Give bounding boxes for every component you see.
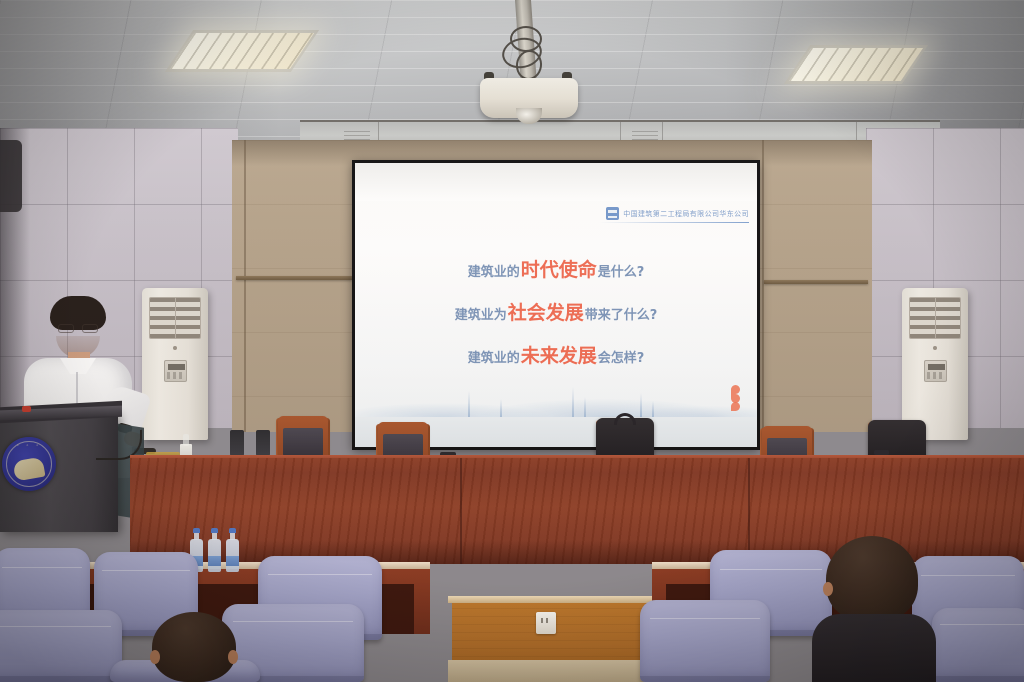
ceiling-light-right [789, 48, 923, 81]
ac-buttons[interactable] [167, 372, 184, 379]
slide-logo-text: 中国建筑第二工程局有限公司华东公司 [623, 209, 749, 219]
light-slats [170, 33, 314, 69]
ac-unit-right [902, 288, 968, 440]
chair-draped-bag-center [596, 418, 654, 460]
slide-line-3: 建筑业的未来发展会怎样? [468, 341, 645, 368]
conference-room-photo: EPSON 中国建筑第二工程局有限公司华东公司 建筑业的时代使命是什么? [0, 0, 1024, 682]
slide-line-1-highlight: 时代使命 [521, 259, 597, 281]
slide-line-1: 建筑业的时代使命是什么? [468, 255, 645, 282]
slide-logo: 中国建筑第二工程局有限公司华东公司 [606, 207, 749, 220]
slide-surface: 中国建筑第二工程局有限公司华东公司 建筑业的时代使命是什么? 建筑业为社会发展带… [355, 163, 757, 447]
ceiling-projector: EPSON [466, 0, 586, 132]
panel-seam [762, 140, 764, 432]
glasses-icon [58, 324, 98, 333]
ceiling-light-left [170, 33, 314, 69]
ac-led-icon [173, 346, 177, 350]
podium-indicator-icon [22, 406, 31, 412]
emblem-text: ◦ ◦ ◦ [8, 443, 50, 449]
slide-ribbon-ornament [731, 385, 741, 411]
projector-lens [516, 108, 542, 124]
attendee-right-head [826, 536, 918, 622]
attendee-right-shoulders [812, 614, 936, 682]
desk-microphone [256, 430, 270, 456]
desk-microphone [230, 430, 244, 456]
ear [228, 650, 238, 664]
slide-line-2: 建筑业为社会发展带来了什么? [455, 298, 658, 325]
wall-rail-left [236, 276, 352, 280]
slide-line-2-pre: 建筑业为 [455, 308, 507, 323]
wall-rail-right [764, 280, 868, 284]
riser-top-lip [448, 596, 652, 603]
riser-base [448, 660, 652, 682]
slide-question-list: 建筑业的时代使命是什么? 建筑业为社会发展带来了什么? 建筑业的未来发展会怎样? [355, 255, 757, 368]
slide-line-2-post: 带来了什么? [585, 308, 658, 323]
podium-emblem: ◦ ◦ ◦ [2, 437, 56, 491]
power-outlet[interactable] [536, 612, 556, 634]
building-mark-icon [606, 207, 619, 220]
slide-line-1-pre: 建筑业的 [468, 265, 520, 280]
ac-led-icon [933, 346, 937, 350]
slide-line-1-post: 是什么? [598, 265, 645, 280]
chair-pad [283, 428, 323, 456]
light-slats [789, 48, 923, 81]
ac-grille-divider [935, 297, 936, 339]
slide-line-3-highlight: 未来发展 [521, 345, 597, 367]
wall-speaker-icon [0, 140, 22, 212]
attendee-left-head [152, 612, 236, 682]
slide-line-3-pre: 建筑业的 [468, 351, 520, 366]
panel-seam [244, 140, 246, 432]
ac-unit-left [142, 288, 208, 440]
water-bottle [208, 528, 221, 572]
slide-line-2-highlight: 社会发展 [508, 302, 584, 324]
audience-seat[interactable] [0, 610, 122, 682]
audience-seat[interactable] [640, 600, 770, 682]
slide-top-band [355, 163, 757, 201]
water-bottle [226, 528, 239, 572]
audience-seat[interactable] [932, 608, 1024, 682]
projection-screen: 中国建筑第二工程局有限公司华东公司 建筑业的时代使命是什么? 建筑业为社会发展带… [352, 160, 760, 450]
slide-line-3-post: 会怎样? [598, 351, 645, 366]
slide-skyline-watermark [355, 375, 757, 417]
ear [150, 650, 160, 664]
ear [823, 582, 833, 596]
ac-grille-divider [175, 297, 176, 339]
slide-logo-rule [599, 222, 749, 223]
ac-buttons[interactable] [927, 372, 944, 379]
